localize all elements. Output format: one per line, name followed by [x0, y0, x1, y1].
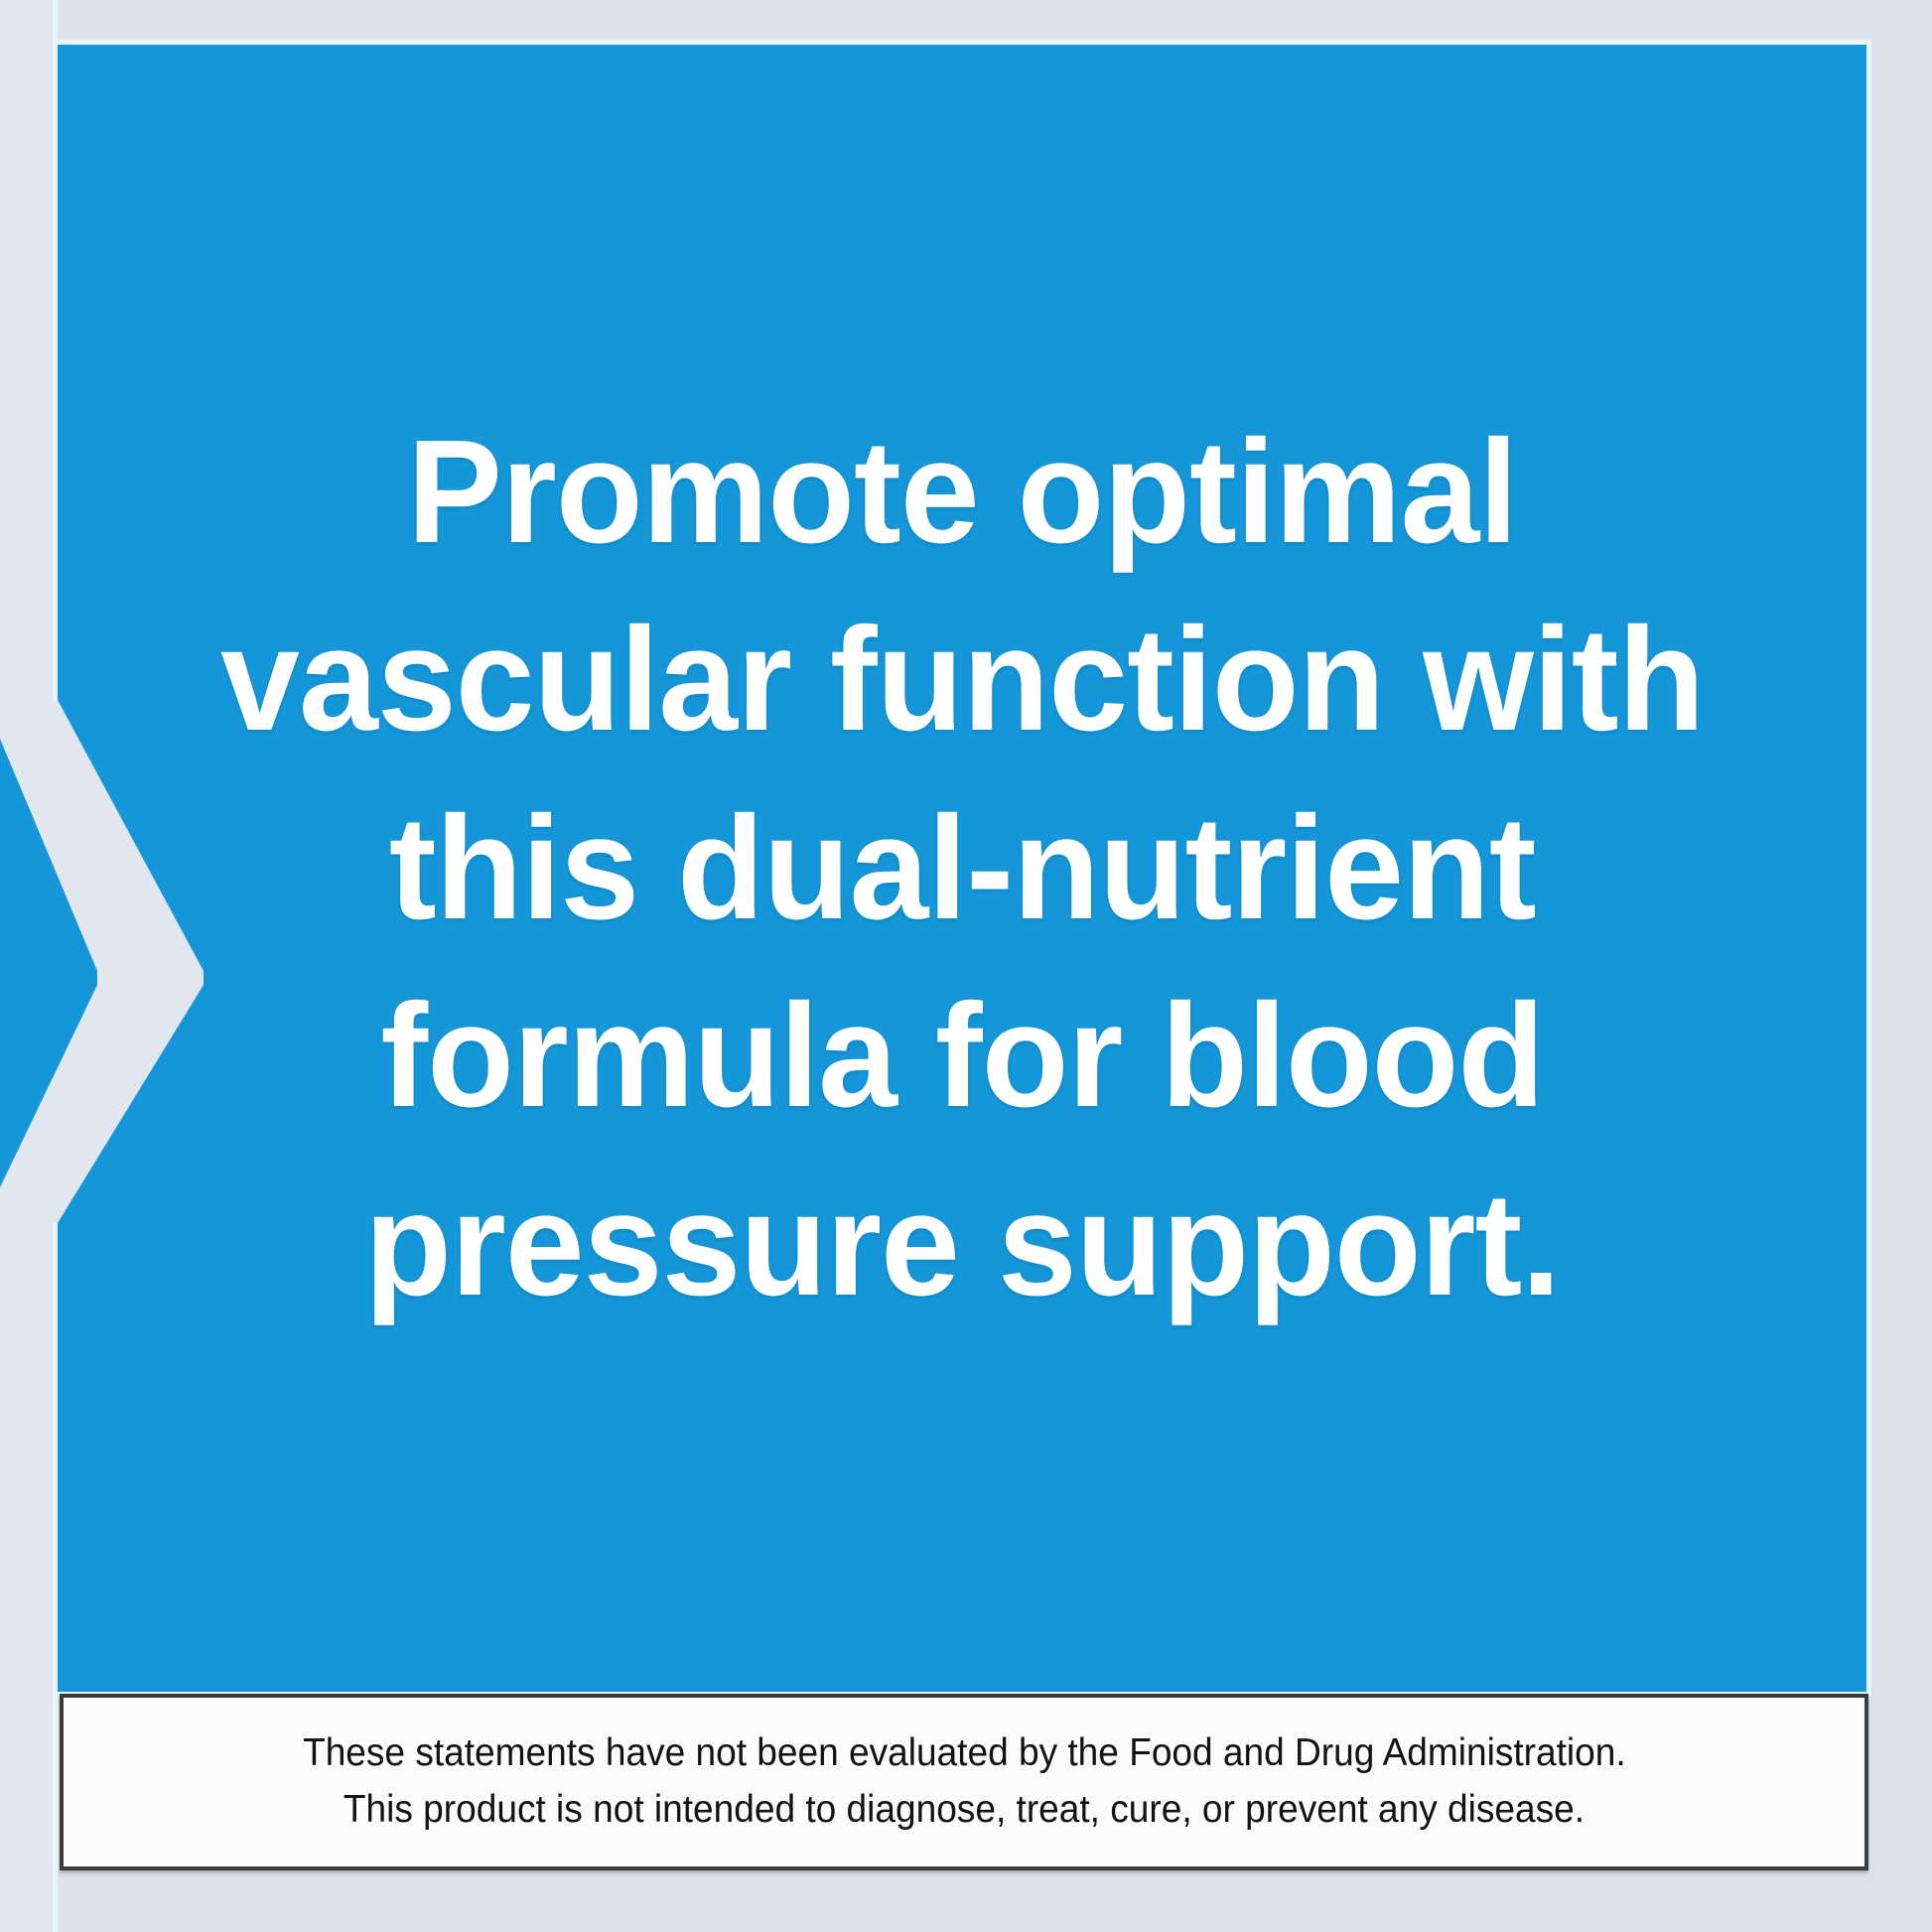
disclaimer-line-1: These statements have not been evaluated… — [303, 1725, 1626, 1782]
headline-line-3: this dual-nutrient — [220, 774, 1704, 962]
disclaimer-line-2: This product is not intended to diagnose… — [344, 1782, 1585, 1839]
headline-line-1: Promote optimal — [220, 398, 1704, 586]
promo-card: Promote optimal vascular function with t… — [0, 0, 1932, 1932]
headline-line-4: formula for blood — [220, 962, 1704, 1150]
headline-block: Promote optimal vascular function with t… — [58, 45, 1866, 1692]
headline-line-5: pressure support. — [220, 1151, 1704, 1338]
headline-line-2: vascular function with — [220, 586, 1704, 773]
page-title: Promote optimal vascular function with t… — [220, 398, 1704, 1338]
fda-disclaimer-box: These statements have not been evaluated… — [60, 1694, 1868, 1870]
